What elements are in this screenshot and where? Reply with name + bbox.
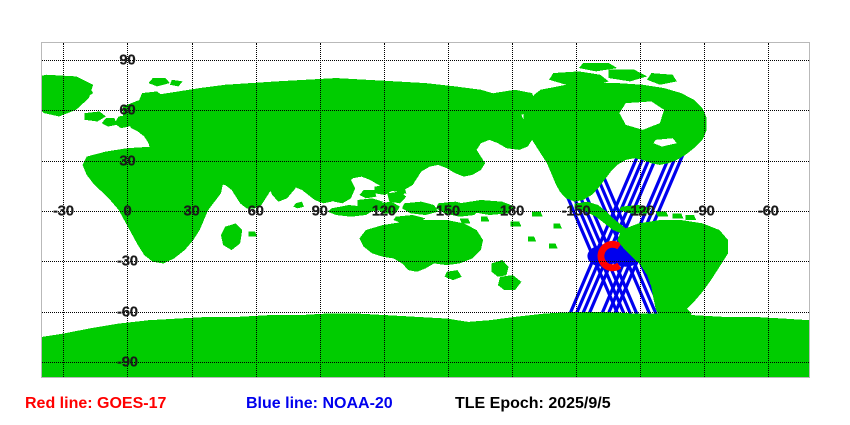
lon-tick-label: -120 [626,203,655,220]
legend-tle-epoch: TLE Epoch: 2025/9/5 [455,392,611,416]
lat-tick-label: 60 [119,102,135,119]
lat-tick-label: 30 [119,152,135,169]
lon-tick-label: -60 [758,203,779,220]
lon-tick-label: 120 [372,203,396,220]
lat-tick-label: 90 [119,51,135,68]
lon-tick-label: 60 [248,203,264,220]
lon-tick-label: -150 [562,203,591,220]
lon-tick-label: 30 [183,203,199,220]
map-frame: -300306090120150180-150-120-90-609060300… [41,42,810,378]
world-map-figure: -300306090120150180-150-120-90-609060300… [0,0,850,425]
lon-tick-label: -90 [694,203,715,220]
legend-goes17: Red line: GOES-17 [25,392,166,416]
lon-tick-label: 180 [500,203,524,220]
lon-tick-label: 90 [312,203,328,220]
lon-tick-label: -30 [53,203,74,220]
lat-tick-label: -90 [117,354,138,371]
lon-tick-label: 150 [436,203,460,220]
legend-noaa20: Blue line: NOAA-20 [246,392,393,416]
lat-tick-label: 0 [123,203,131,220]
legend: Red line: GOES-17 Blue line: NOAA-20 TLE… [0,392,850,425]
lat-tick-label: -30 [117,253,138,270]
lat-tick-label: -60 [117,303,138,320]
